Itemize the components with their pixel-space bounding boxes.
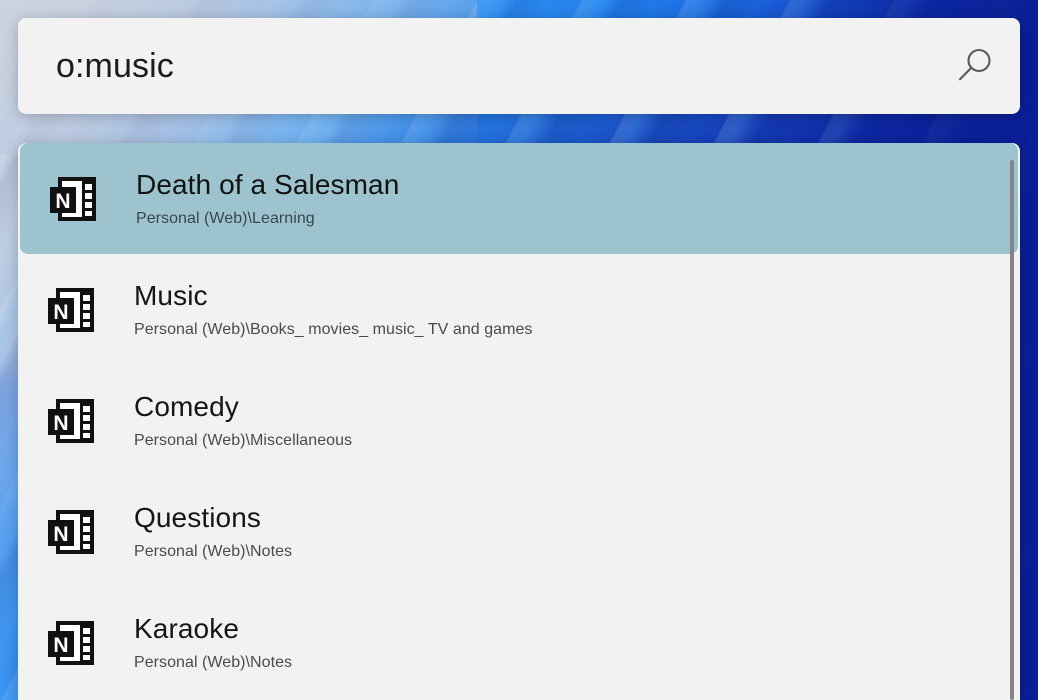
result-location: Personal (Web)\Books_ movies_ music_ TV …	[134, 320, 532, 339]
screen: o:music N	[0, 0, 1038, 700]
search-button[interactable]	[928, 18, 1020, 114]
scrollbar-thumb[interactable]	[1010, 160, 1014, 700]
onenote-icon-wrap: N	[44, 286, 106, 334]
svg-text:N: N	[53, 634, 68, 657]
onenote-icon-wrap: N	[44, 508, 106, 556]
result-title: Death of a Salesman	[136, 169, 399, 201]
onenote-icon: N	[46, 175, 102, 223]
onenote-icon-wrap: N	[44, 397, 106, 445]
result-row[interactable]: N Music Personal (Web)\Books_ movies_ mu…	[18, 254, 1020, 365]
search-icon	[951, 43, 997, 89]
result-row[interactable]: N Karaoke Personal (Web)\Notes	[18, 587, 1020, 698]
onenote-icon: N	[44, 286, 100, 334]
result-text-group: Death of a Salesman Personal (Web)\Learn…	[108, 169, 399, 228]
result-text-group: Comedy Personal (Web)\Miscellaneous	[106, 391, 352, 450]
onenote-icon: N	[44, 397, 100, 445]
search-box[interactable]: o:music	[18, 18, 1020, 114]
onenote-icon-wrap: N	[46, 175, 108, 223]
result-location: Personal (Web)\Miscellaneous	[134, 431, 352, 450]
svg-text:N: N	[53, 412, 68, 435]
result-title: Karaoke	[134, 613, 292, 645]
results-scrollbar[interactable]	[1004, 143, 1018, 700]
result-title: Comedy	[134, 391, 352, 423]
svg-text:N: N	[53, 523, 68, 546]
result-location: Personal (Web)\Notes	[134, 653, 292, 672]
onenote-icon-wrap: N	[44, 619, 106, 667]
svg-text:N: N	[53, 301, 68, 324]
result-row[interactable]: N Questions Personal (Web)\Notes	[18, 476, 1020, 587]
onenote-icon: N	[44, 508, 100, 556]
result-title: Music	[134, 280, 532, 312]
result-text-group: Questions Personal (Web)\Notes	[106, 502, 292, 561]
result-text-group: Music Personal (Web)\Books_ movies_ musi…	[106, 280, 532, 339]
result-text-group: Karaoke Personal (Web)\Notes	[106, 613, 292, 672]
result-location: Personal (Web)\Notes	[134, 542, 292, 561]
result-title: Questions	[134, 502, 292, 534]
search-input[interactable]: o:music	[18, 47, 928, 86]
result-row[interactable]: N Death of a Salesman Personal (Web)\Lea…	[20, 143, 1018, 254]
search-results-panel: N Death of a Salesman Personal (Web)\Lea…	[18, 143, 1020, 700]
onenote-icon: N	[44, 619, 100, 667]
result-row[interactable]: N Comedy Personal (Web)\Miscellaneous	[18, 365, 1020, 476]
result-location: Personal (Web)\Learning	[136, 209, 399, 228]
svg-text:N: N	[55, 190, 70, 213]
